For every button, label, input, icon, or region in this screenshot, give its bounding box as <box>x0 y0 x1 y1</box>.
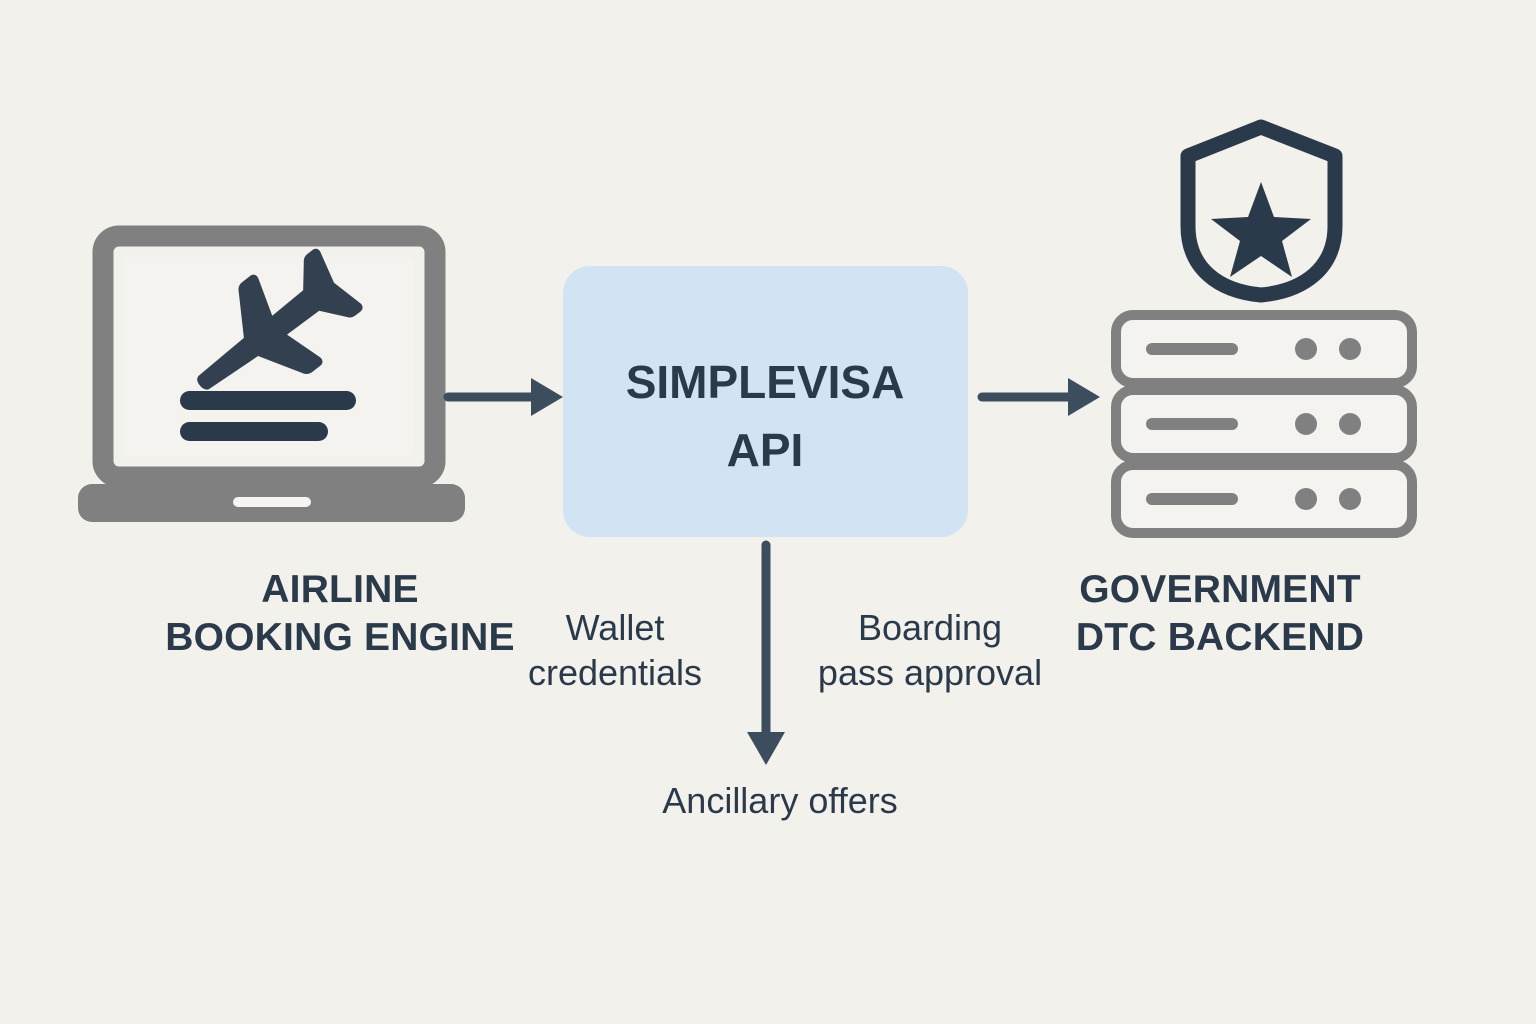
wallet-credentials-label: Wallet credentials <box>470 605 760 695</box>
shield-star-server-stack-icon <box>1116 127 1412 533</box>
server-led-a <box>1295 488 1317 510</box>
laptop-text-line-2 <box>180 422 328 441</box>
server-led-b <box>1339 413 1361 435</box>
server-rack-3 <box>1116 465 1412 533</box>
laptop-text-line-1 <box>180 391 356 410</box>
server-led-b <box>1339 488 1361 510</box>
api-box-label-line1: SIMPLEVISA <box>626 356 905 408</box>
arrow-airline-to-api <box>448 378 563 416</box>
arrow-head <box>531 378 563 416</box>
diagram-canvas: SIMPLEVISA API AIRLINE BOOKING ENGINE GO… <box>0 0 1536 1024</box>
server-led-a <box>1295 338 1317 360</box>
server-rack-bar <box>1146 418 1238 430</box>
arrow-api-to-government <box>982 378 1100 416</box>
server-rack-2 <box>1116 390 1412 458</box>
star-icon <box>1211 182 1311 277</box>
server-rack-1 <box>1116 315 1412 383</box>
boarding-pass-approval-label: Boarding pass approval <box>780 605 1080 695</box>
ancillary-offers-label: Ancillary offers <box>575 778 985 823</box>
server-rack-bar <box>1146 493 1238 505</box>
diagram-graphics: SIMPLEVISA API <box>0 0 1536 1024</box>
api-box-label-line2: API <box>727 424 804 476</box>
arrow-head <box>1068 378 1100 416</box>
shield-icon <box>1188 127 1335 295</box>
arrow-head <box>747 732 785 765</box>
laptop-airplane-icon <box>78 233 465 522</box>
server-led-a <box>1295 413 1317 435</box>
laptop-trackpad-notch <box>233 497 311 507</box>
server-rack-bar <box>1146 343 1238 355</box>
server-led-b <box>1339 338 1361 360</box>
